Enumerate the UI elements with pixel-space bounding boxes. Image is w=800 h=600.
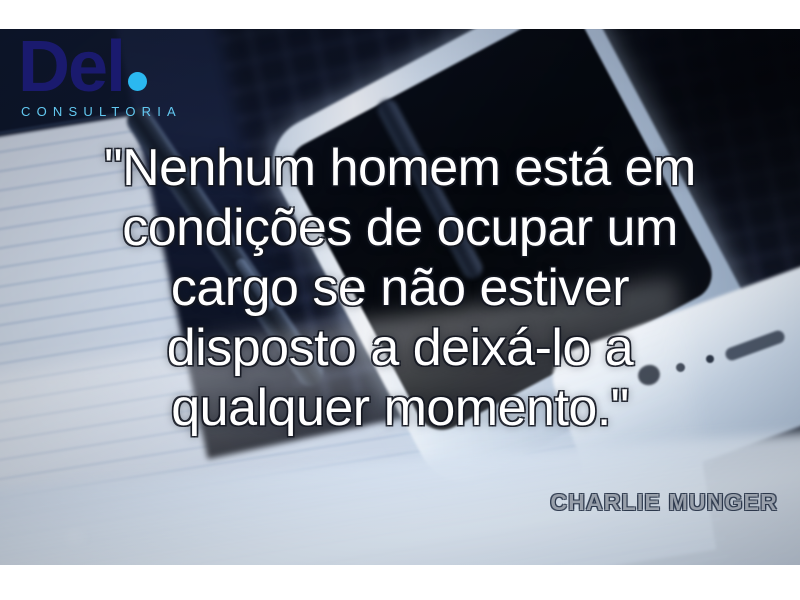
brand-logo: Del CONSULTORIA — [18, 34, 182, 119]
quote-attribution: CHARLIE MUNGER — [550, 489, 778, 516]
dot-icon — [128, 72, 147, 91]
logo-wordmark-text: Del — [18, 34, 124, 100]
quote-line-2: condições de ocupar um — [0, 198, 800, 258]
logo-wordmark: Del — [18, 34, 182, 100]
quote-text: "Nenhum homem está em condições de ocupa… — [0, 138, 800, 438]
quote-line-3: cargo se não estiver — [0, 258, 800, 318]
logo-tagline: CONSULTORIA — [21, 104, 182, 119]
quote-line-5: qualquer momento." — [0, 378, 800, 438]
quote-line-1: "Nenhum homem está em — [0, 138, 800, 198]
quote-line-4: disposto a deixá-lo a — [0, 318, 800, 378]
quote-poster: Del CONSULTORIA "Nenhum homem está em co… — [0, 0, 800, 600]
